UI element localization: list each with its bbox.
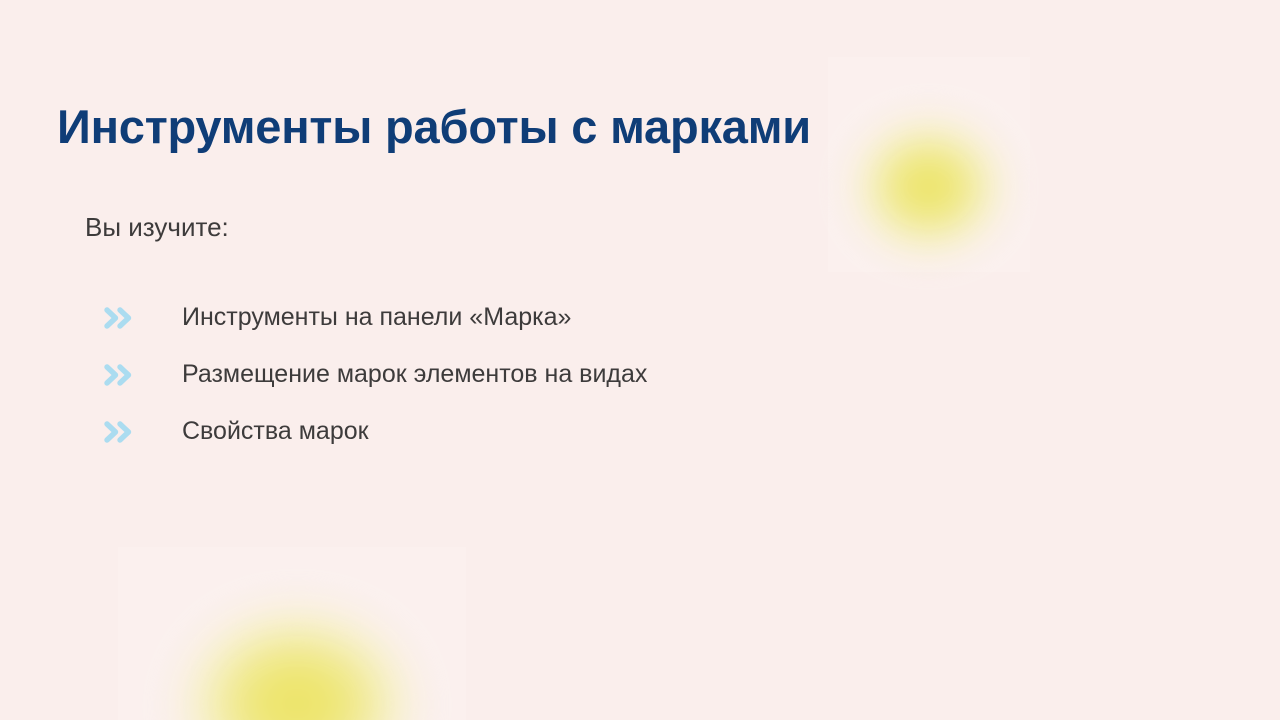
list-item-label: Свойства марок xyxy=(182,415,369,448)
slide-title: Инструменты работы с марками xyxy=(57,99,811,155)
slide-content: Инструменты работы с марками Вы изучите:… xyxy=(0,0,1280,720)
list-item-label: Размещение марок элементов на видах xyxy=(182,358,647,391)
list-item: Размещение марок элементов на видах xyxy=(103,346,647,403)
list-item: Свойства марок xyxy=(103,403,647,460)
intro-label: Вы изучите: xyxy=(85,210,229,245)
double-chevron-right-icon xyxy=(103,417,143,447)
list-item-label: Инструменты на панели «Марка» xyxy=(182,301,571,334)
double-chevron-right-icon xyxy=(103,303,143,333)
double-chevron-right-icon xyxy=(103,360,143,390)
list-item: Инструменты на панели «Марка» xyxy=(103,289,647,346)
learning-objectives-list: Инструменты на панели «Марка» Размещение… xyxy=(103,289,647,460)
slide-canvas: Инструменты работы с марками Вы изучите:… xyxy=(0,0,1280,720)
